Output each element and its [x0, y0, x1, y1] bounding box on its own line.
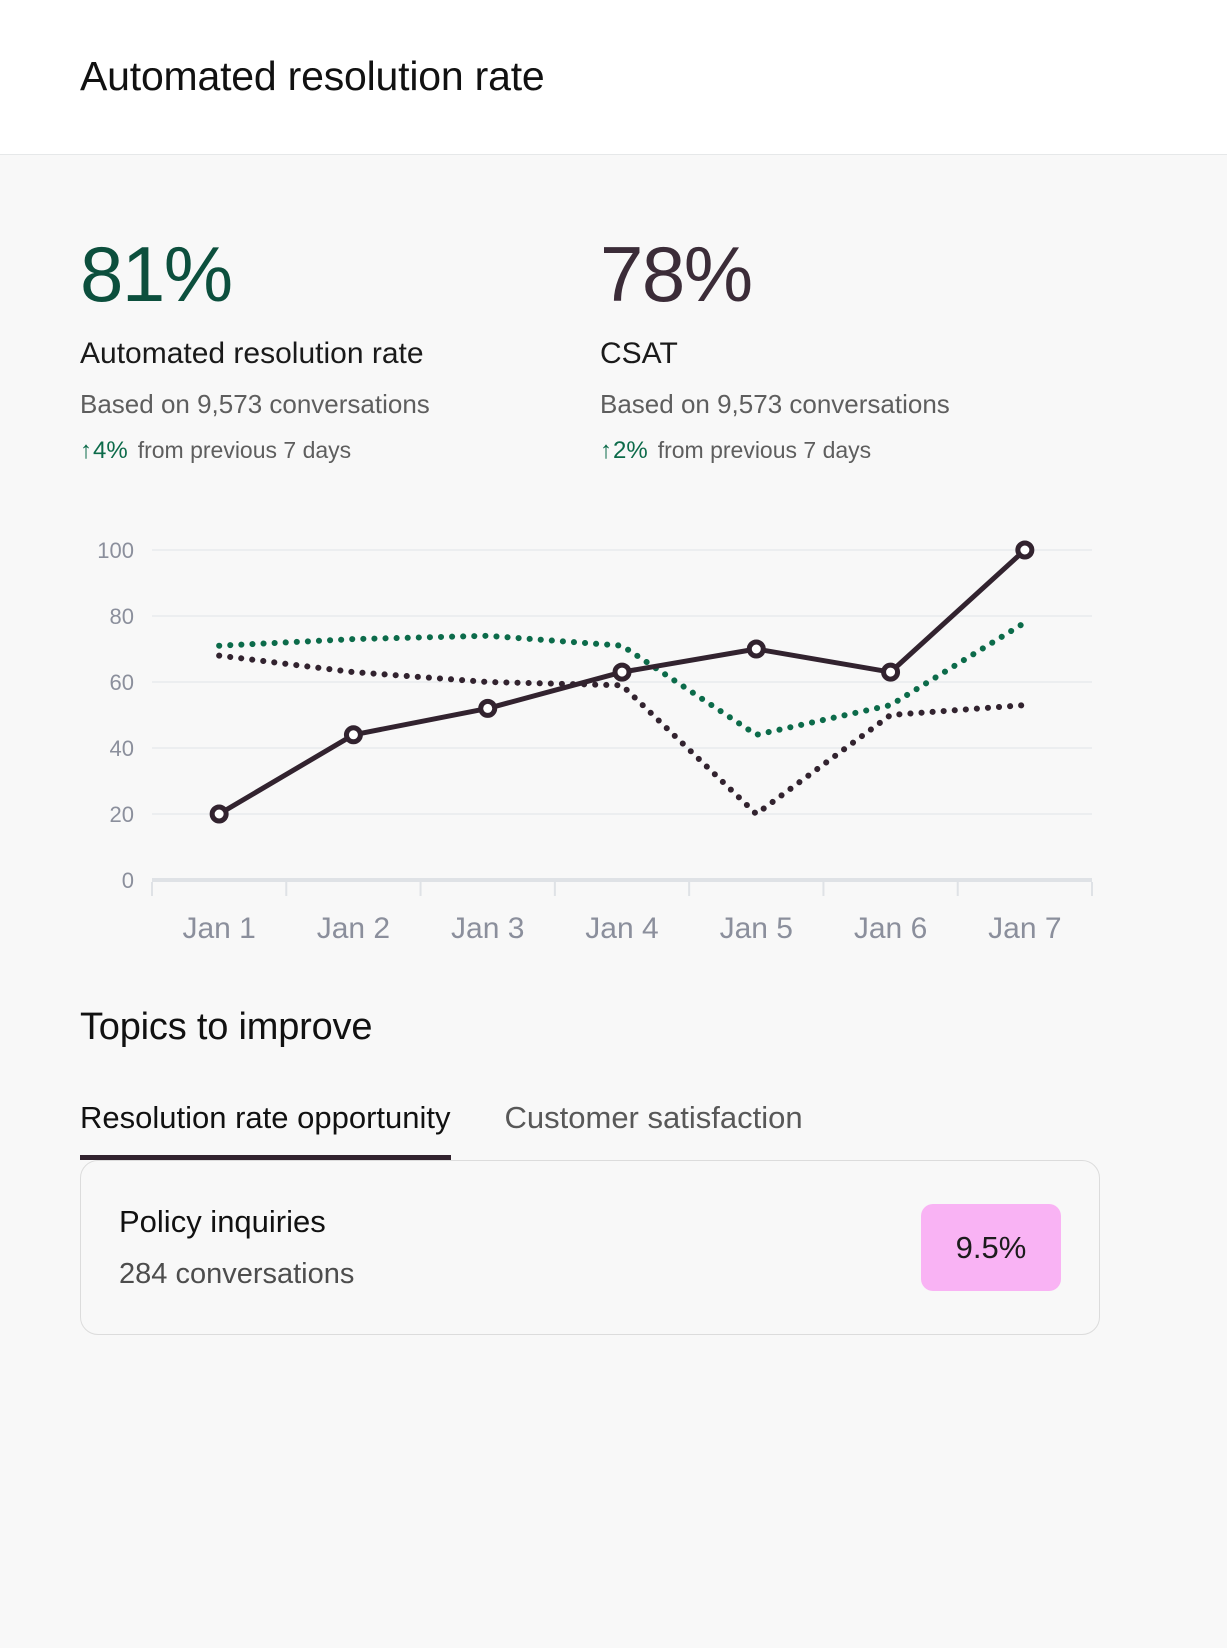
- kpi-delta-percent: 2%: [613, 437, 648, 466]
- topic-text: Policy inquiries 284 conversations: [119, 1204, 354, 1291]
- tab-resolution-rate-opportunity[interactable]: Resolution rate opportunity: [80, 1101, 451, 1160]
- chart-data-point[interactable]: [481, 702, 495, 716]
- x-axis-tick-label: Jan 7: [988, 912, 1061, 945]
- y-axis-tick-label: 100: [97, 538, 134, 563]
- arrow-up-icon: ↑: [80, 437, 92, 466]
- x-axis-tick-label: Jan 2: [317, 912, 390, 945]
- kpi-csat: 78% CSAT Based on 9,573 conversations ↑ …: [600, 237, 1120, 466]
- y-axis-tick-label: 40: [110, 736, 134, 761]
- kpi-automated-resolution-rate: 81% Automated resolution rate Based on 9…: [80, 237, 600, 466]
- topic-name: Policy inquiries: [119, 1204, 354, 1240]
- topics-tabs: Resolution rate opportunity Customer sat…: [80, 1101, 1147, 1160]
- y-axis-tick-label: 20: [110, 802, 134, 827]
- kpi-label: Automated resolution rate: [80, 337, 600, 372]
- kpi-delta: ↑ 2% from previous 7 days: [600, 437, 1120, 466]
- chart-data-point[interactable]: [615, 665, 629, 679]
- page-title: Automated resolution rate: [80, 54, 545, 99]
- chart-data-point[interactable]: [1018, 543, 1032, 557]
- x-axis-tick-label: Jan 6: [854, 912, 927, 945]
- y-axis-tick-label: 80: [110, 604, 134, 629]
- arrow-up-icon: ↑: [600, 437, 612, 466]
- x-axis-tick-label: Jan 4: [585, 912, 658, 945]
- x-axis-tick-label: Jan 1: [182, 912, 255, 945]
- chart-data-point[interactable]: [884, 665, 898, 679]
- kpi-delta-percent: 4%: [93, 437, 128, 466]
- kpi-basis: Based on 9,573 conversations: [80, 390, 600, 420]
- x-axis-tick-label: Jan 5: [720, 912, 793, 945]
- kpi-label: CSAT: [600, 337, 1120, 372]
- page-header: Automated resolution rate: [0, 0, 1227, 155]
- chart-data-point[interactable]: [749, 642, 763, 656]
- chart-data-point[interactable]: [346, 728, 360, 742]
- trend-chart-svg: 020406080100Jan 1Jan 2Jan 3Jan 4Jan 5Jan…: [80, 528, 1100, 988]
- topics-section-title: Topics to improve: [80, 1006, 1147, 1049]
- kpi-delta: ↑ 4% from previous 7 days: [80, 437, 600, 466]
- dashboard-body: 81% Automated resolution rate Based on 9…: [0, 155, 1227, 1648]
- chart-data-point[interactable]: [212, 807, 226, 821]
- topic-conversation-count: 284 conversations: [119, 1258, 354, 1291]
- kpi-delta-note: from previous 7 days: [658, 437, 871, 465]
- y-axis-tick-label: 60: [110, 670, 134, 695]
- kpi-basis: Based on 9,573 conversations: [600, 390, 1120, 420]
- topic-percentage-badge: 9.5%: [921, 1204, 1061, 1291]
- tab-customer-satisfaction[interactable]: Customer satisfaction: [505, 1101, 803, 1160]
- kpi-row: 81% Automated resolution rate Based on 9…: [80, 155, 1147, 466]
- kpi-value: 81%: [80, 237, 600, 311]
- trend-chart: 020406080100Jan 1Jan 2Jan 3Jan 4Jan 5Jan…: [80, 528, 1100, 988]
- kpi-delta-note: from previous 7 days: [138, 437, 351, 465]
- y-axis-tick-label: 0: [122, 868, 134, 893]
- x-axis-tick-label: Jan 3: [451, 912, 524, 945]
- topic-list-item[interactable]: Policy inquiries 284 conversations 9.5%: [80, 1160, 1100, 1335]
- kpi-value: 78%: [600, 237, 1120, 311]
